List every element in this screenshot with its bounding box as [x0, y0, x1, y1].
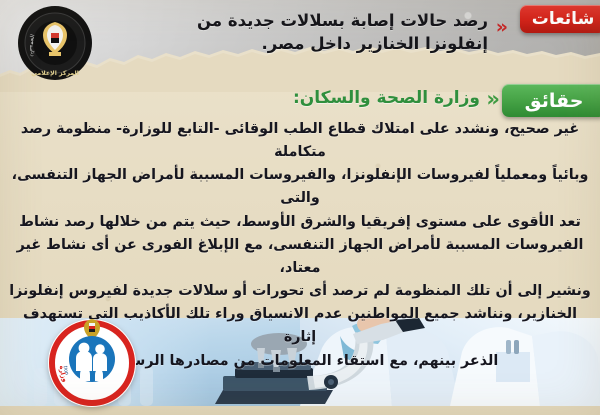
- body-line-3: تعد الأقوى على مستوى إفريقيا والشرق الأو…: [8, 211, 592, 234]
- body-line-4: الفيروسات المسببة لأمراض الجهاز التنفسى،…: [8, 234, 592, 280]
- svg-text:المركز الإعلامي: المركز الإعلامي: [31, 70, 79, 77]
- source-ministry-label: وزارة الصحة والسكان:: [293, 88, 480, 108]
- infographic-poster: الجمهورية مصر العربية رئاسة مجلس الوزراء…: [0, 0, 600, 415]
- body-line-1: غير صحيح، ونشدد على امتلاك قطاع الطب الو…: [8, 118, 592, 164]
- chevron-icon-facts: «: [486, 89, 500, 110]
- body-line-5: ونشير إلى أن تلك المنظومة لم ترصد أى تحو…: [8, 280, 592, 303]
- rumors-badge: شائعات: [520, 5, 600, 33]
- sis-logo: الجمهورية مصر العربية رئاسة مجلس الوزراء…: [16, 4, 94, 82]
- body-line-2: وبائياً ومعملياً لفيروسات الإنفلونزا، وا…: [8, 164, 592, 210]
- chevron-icon-rumors: «: [496, 18, 508, 37]
- facts-badge: حقائق: [502, 84, 600, 117]
- headline: رصد حالات إصابة بسلالات جديدة من إنفلونز…: [158, 9, 488, 56]
- moh-logo: Ministry of Health & Population وزارة ال…: [44, 313, 140, 409]
